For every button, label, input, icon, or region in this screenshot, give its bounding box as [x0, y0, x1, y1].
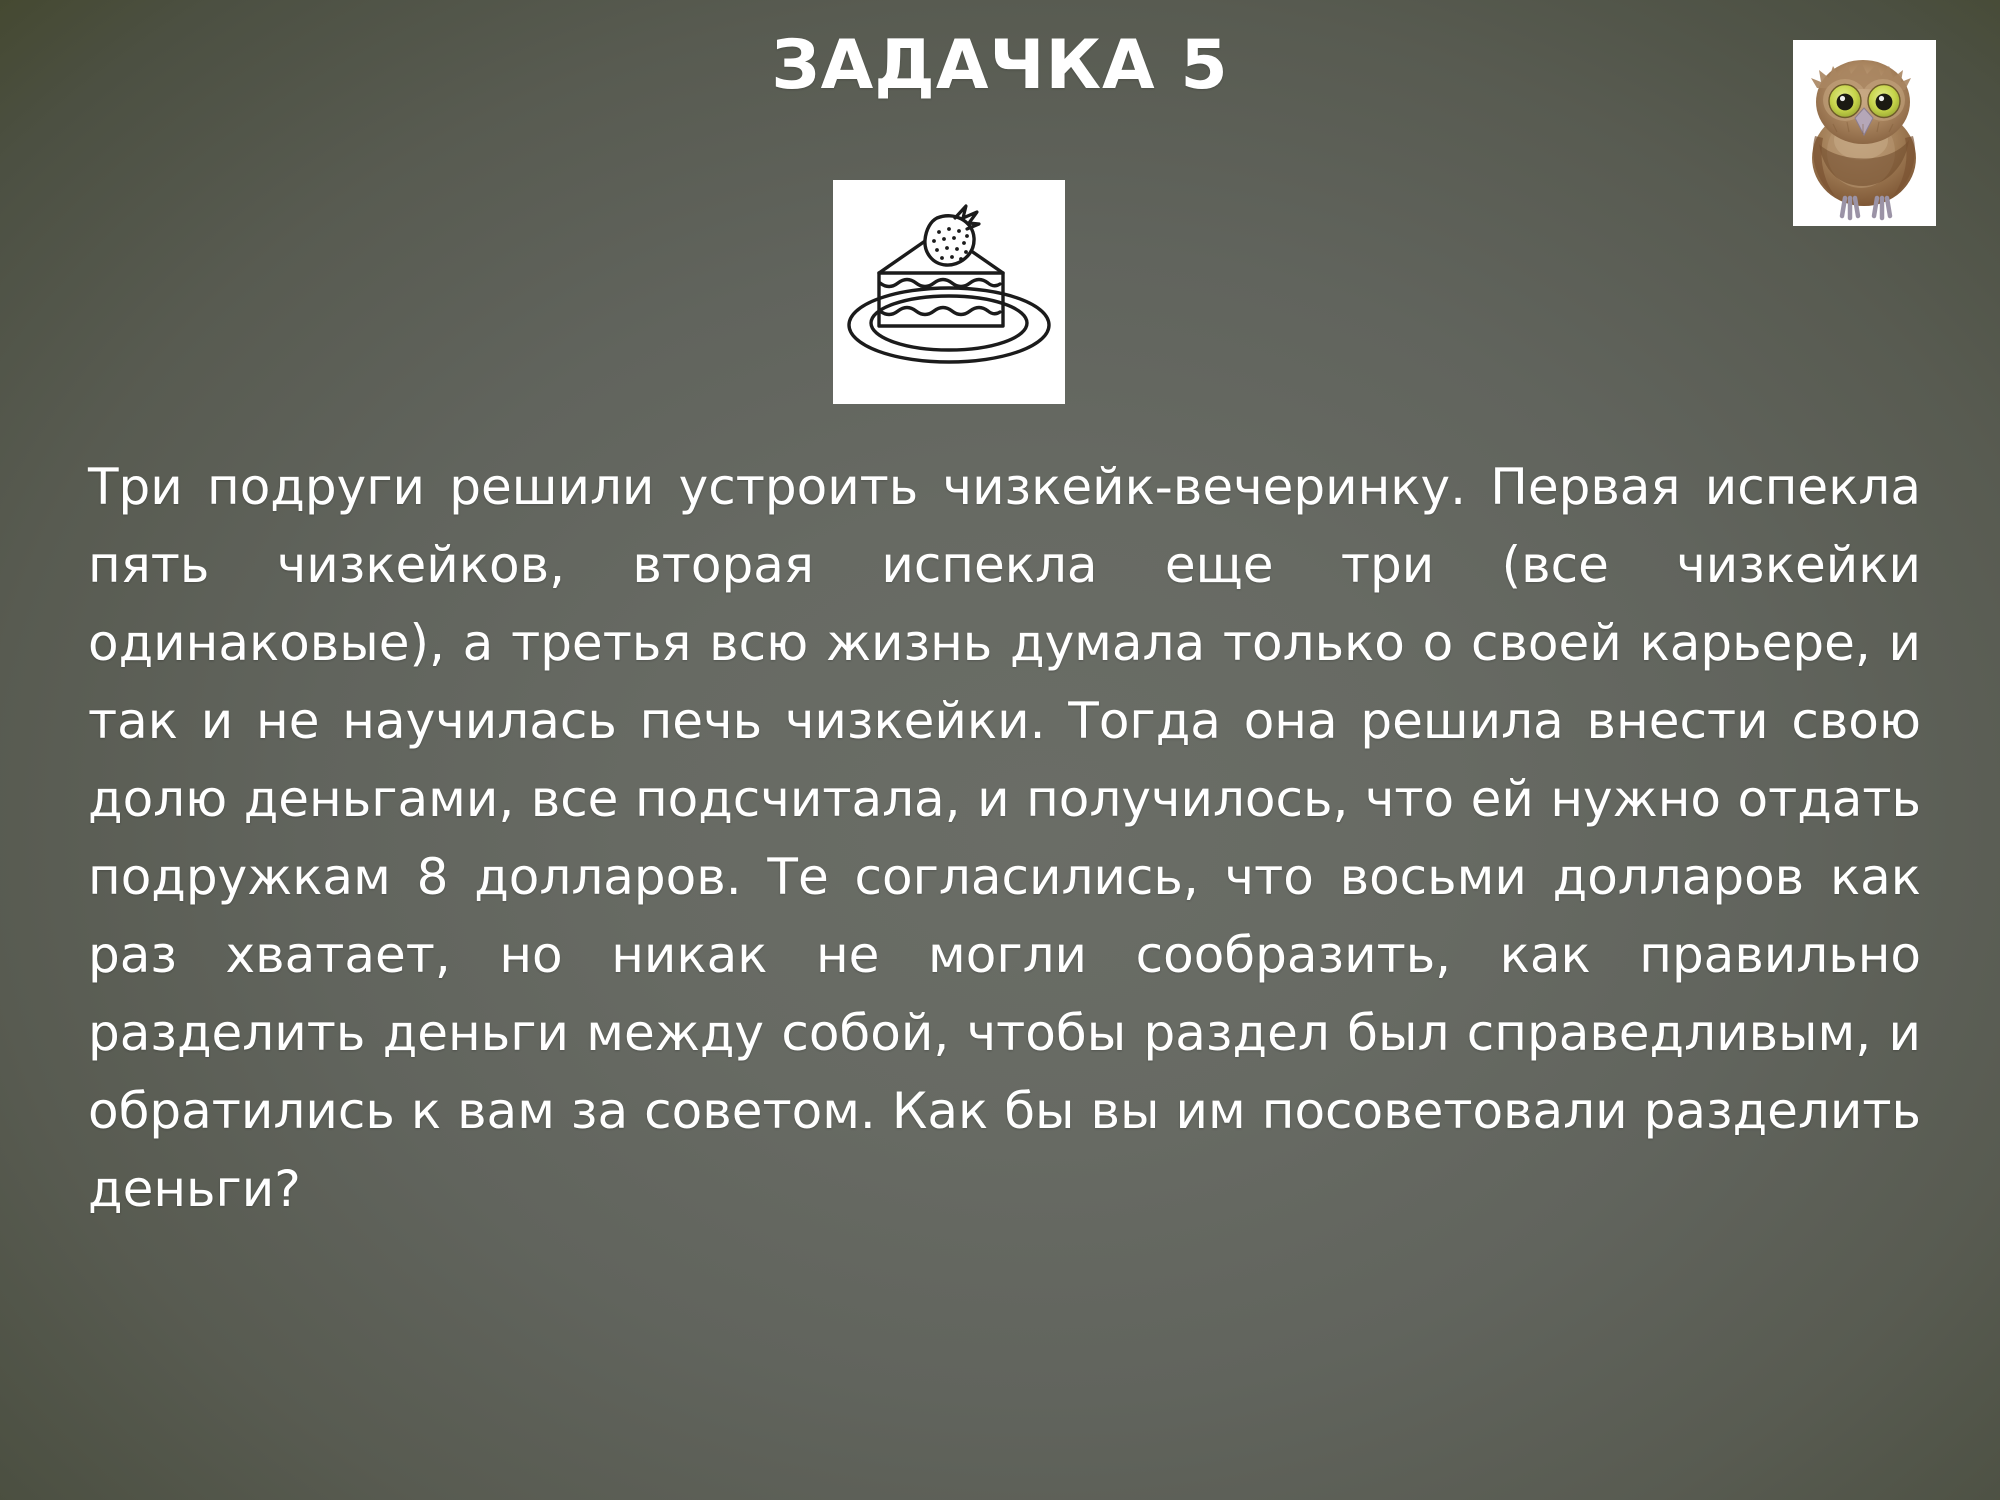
page-title: ЗАДАЧКА 5	[0, 28, 2000, 104]
slide-canvas: ЗАДАЧКА 5	[0, 0, 2000, 1500]
owl-illustration	[1793, 40, 1936, 226]
cheesecake-image-frame	[833, 180, 1065, 404]
problem-statement: Три подруги решили устроить чизкейк-вече…	[88, 448, 1921, 1306]
owl-image-frame	[1793, 40, 1936, 226]
cheesecake-slice-icon	[833, 180, 1065, 404]
